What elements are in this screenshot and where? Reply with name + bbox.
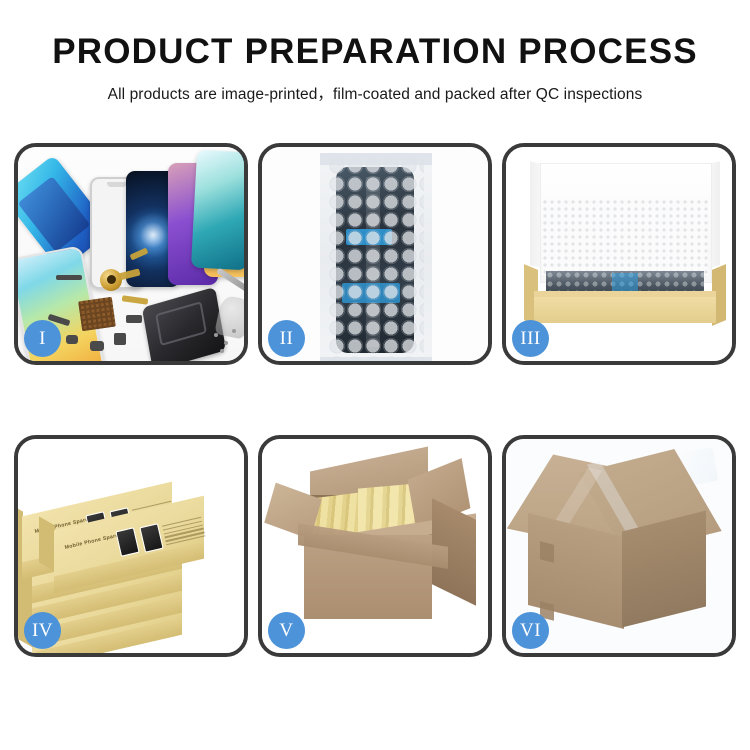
small-part-a xyxy=(66,335,78,344)
bag-seal-top xyxy=(320,153,432,165)
tweezers-icon xyxy=(214,294,244,339)
step-panel-3: III xyxy=(502,143,736,365)
bubble-texture-shadow xyxy=(328,157,424,361)
small-part-b xyxy=(90,341,104,351)
screw-d xyxy=(220,349,224,353)
process-step-grid: I II xyxy=(14,143,736,657)
screw-b xyxy=(224,341,228,345)
step-panel-6: VI xyxy=(502,435,736,657)
step-panel-5: V xyxy=(258,435,492,657)
step-badge-3: III xyxy=(512,320,549,357)
carton-right-face xyxy=(622,511,706,628)
page-title: PRODUCT PREPARATION PROCESS xyxy=(0,34,750,69)
step-panel-1: I xyxy=(14,143,248,365)
phone-back-housing xyxy=(142,287,226,361)
step-badge-1: I xyxy=(24,320,61,357)
small-part-c xyxy=(114,333,126,345)
battery-connector-part xyxy=(56,275,82,280)
step-panel-4: Mobile Phone Spare Parts Mobile Phone Sp… xyxy=(14,435,248,657)
bag-seal-bottom xyxy=(320,357,432,361)
screw-c xyxy=(232,329,236,333)
infographic-page: PRODUCT PREPARATION PROCESS All products… xyxy=(0,0,750,750)
header: PRODUCT PREPARATION PROCESS All products… xyxy=(0,0,750,104)
box-base-front xyxy=(534,297,716,323)
page-subtitle: All products are image-printed，film-coat… xyxy=(0,82,750,104)
step-badge-2: II xyxy=(268,320,305,357)
bubble-wrap-bag xyxy=(320,153,432,361)
step-badge-4: IV xyxy=(24,612,61,649)
carton-tab-upper xyxy=(540,541,554,562)
step-badge-5: V xyxy=(268,612,305,649)
small-part-d xyxy=(126,315,142,323)
phone-screen-teal xyxy=(191,150,244,271)
screw-a xyxy=(214,333,218,337)
foam-lining xyxy=(542,199,708,275)
flex-cable-gold-b xyxy=(122,295,149,305)
chip-grid-part xyxy=(78,297,116,331)
step-panel-2: II xyxy=(258,143,492,365)
step-badge-6: VI xyxy=(512,612,549,649)
